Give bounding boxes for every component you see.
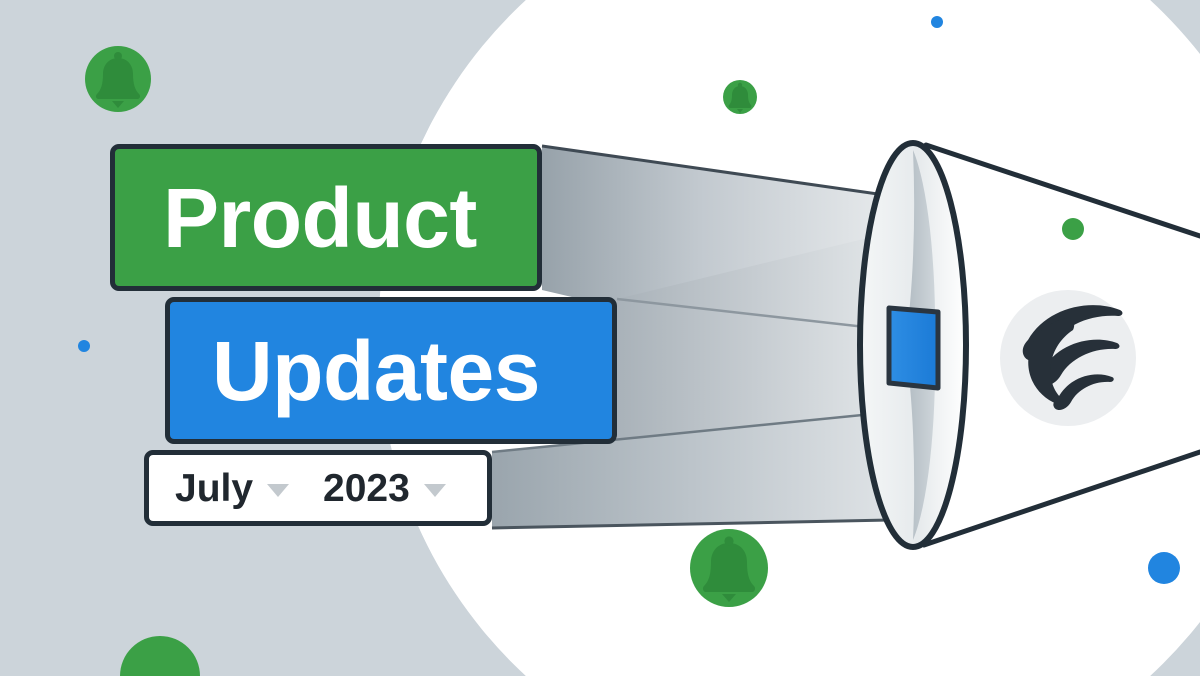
bell-badge-top-left [85, 46, 151, 112]
blue-dot-left [78, 340, 90, 352]
chevron-down-icon[interactable] [424, 484, 446, 497]
product-banner-label: Product [163, 176, 477, 260]
bell-badge-bottom-center [690, 529, 768, 607]
product-banner[interactable]: Product [110, 144, 542, 291]
updates-banner-label: Updates [212, 329, 540, 413]
green-dot-on-outline [1062, 218, 1084, 240]
bell-badge-top-center [723, 80, 757, 114]
updates-banner[interactable]: Updates [165, 297, 617, 444]
green-circle-bottom-left [120, 636, 200, 676]
product-updates-banner: Product Updates July 2023 [0, 0, 1200, 676]
chevron-down-icon[interactable] [267, 484, 289, 497]
date-selector[interactable]: July 2023 [144, 450, 492, 526]
month-dropdown[interactable]: July [175, 469, 289, 508]
blue-dot-bottom-right [1148, 552, 1180, 584]
year-value: 2023 [323, 469, 410, 508]
month-value: July [175, 469, 253, 508]
blue-dot-top-right [931, 16, 943, 28]
year-dropdown[interactable]: 2023 [323, 469, 446, 508]
